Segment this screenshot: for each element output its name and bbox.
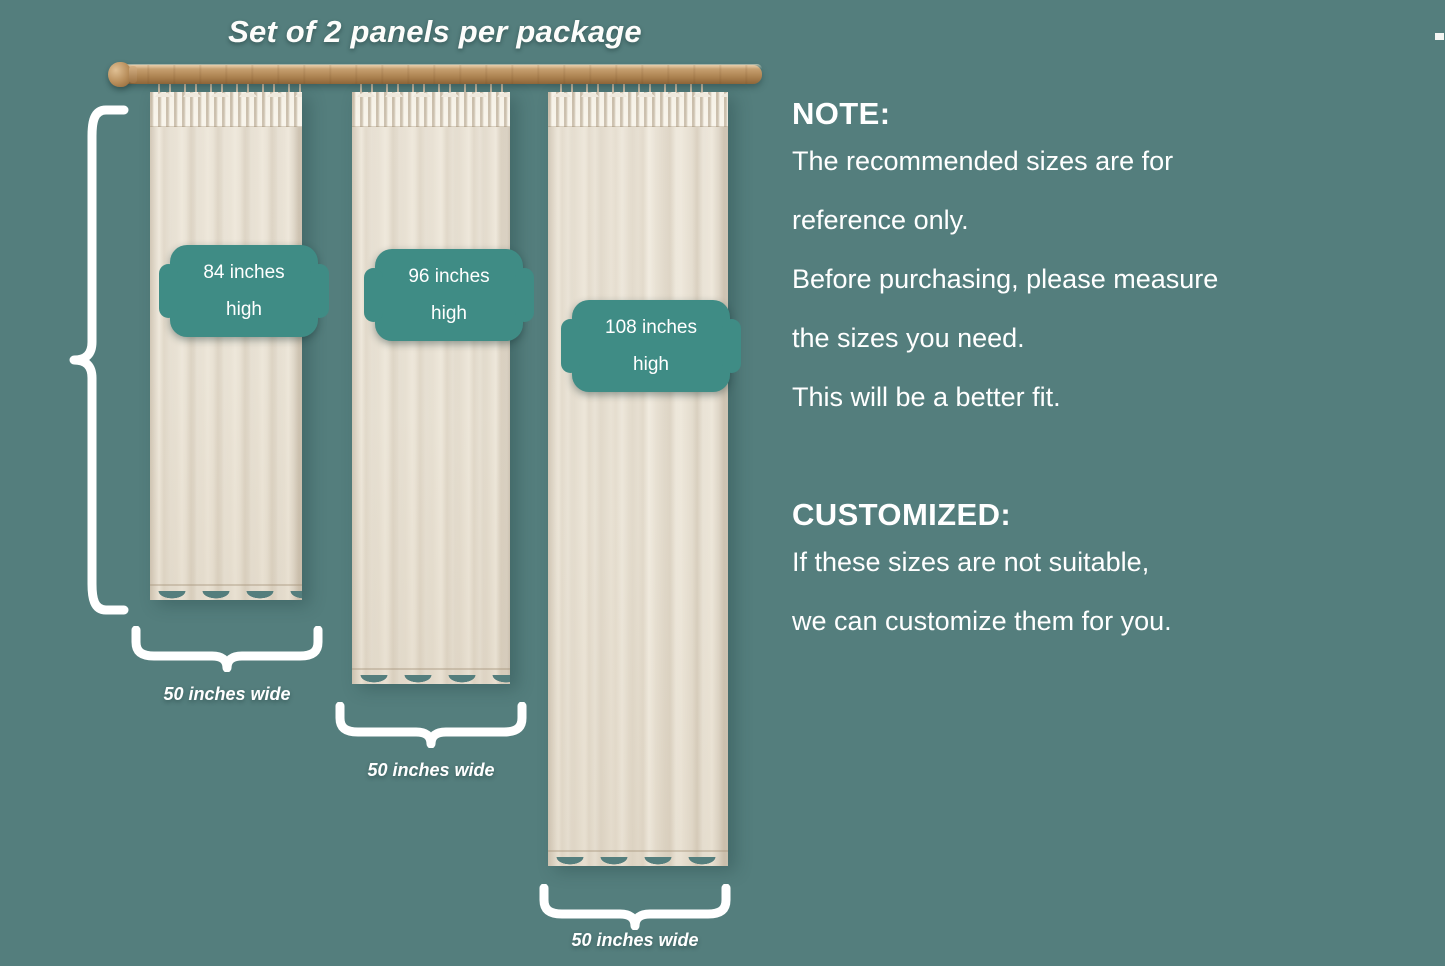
pencil-pleat-header <box>150 92 302 127</box>
note-line-2: reference only. <box>792 207 1392 234</box>
height-badge-84-unit: high <box>192 291 296 328</box>
width-brace-panel-84 <box>130 626 324 672</box>
customized-heading: CUSTOMIZED: <box>792 497 1392 533</box>
width-caption-panel-84: 50 inches wide <box>130 684 324 705</box>
height-badge-96-value: 96 inches <box>397 258 501 295</box>
edge-artifact <box>1435 33 1444 40</box>
height-brace <box>62 104 132 616</box>
height-badge-96: 96 inches high <box>375 249 523 341</box>
rod-finial <box>108 62 131 87</box>
curtain-hem-line <box>150 584 302 586</box>
pencil-pleat-header <box>548 92 728 127</box>
infographic-canvas: Set of 2 panels per package <box>0 0 1445 966</box>
customized-line-2: we can customize them for you. <box>792 608 1392 635</box>
curtain-bottom-wave <box>548 857 728 873</box>
note-line-5: This will be a better fit. <box>792 384 1392 411</box>
curtain-folds <box>548 92 728 866</box>
notes-column: NOTE: The recommended sizes are for refe… <box>792 96 1392 667</box>
curtain-hem-line <box>548 850 728 852</box>
width-caption-panel-108: 50 inches wide <box>538 930 732 951</box>
curtain-folds <box>352 92 510 684</box>
note-line-4: the sizes you need. <box>792 325 1392 352</box>
curtain-folds <box>150 92 302 600</box>
width-brace-panel-96 <box>334 702 528 748</box>
height-badge-108-value: 108 inches <box>594 309 708 346</box>
width-caption-panel-96: 50 inches wide <box>334 760 528 781</box>
pencil-pleat-header <box>352 92 510 127</box>
curtain-rod-grain <box>112 65 762 84</box>
curtain-hem-line <box>352 668 510 670</box>
curtain-panel-84 <box>150 92 302 600</box>
pleat-top-scallop <box>352 88 510 97</box>
width-brace-panel-108 <box>538 884 732 930</box>
height-badge-96-unit: high <box>397 295 501 332</box>
pleat-top-scallop <box>150 88 302 97</box>
section-spacer <box>792 443 1392 497</box>
page-title: Set of 2 panels per package <box>150 14 720 50</box>
curtain-bottom-wave <box>150 591 302 607</box>
rod-finial-neck <box>129 66 137 83</box>
customized-line-1: If these sizes are not suitable, <box>792 549 1392 576</box>
height-badge-108-unit: high <box>594 346 708 383</box>
height-badge-84: 84 inches high <box>170 245 318 337</box>
pleat-top-scallop <box>548 88 728 97</box>
note-heading: NOTE: <box>792 96 1392 132</box>
curtain-panel-96 <box>352 92 510 684</box>
height-badge-84-value: 84 inches <box>192 254 296 291</box>
height-badge-108: 108 inches high <box>572 300 730 392</box>
note-line-3: Before purchasing, please measure <box>792 266 1392 293</box>
note-line-1: The recommended sizes are for <box>792 148 1392 175</box>
curtain-panel-108 <box>548 92 728 866</box>
curtain-bottom-wave <box>352 675 510 691</box>
